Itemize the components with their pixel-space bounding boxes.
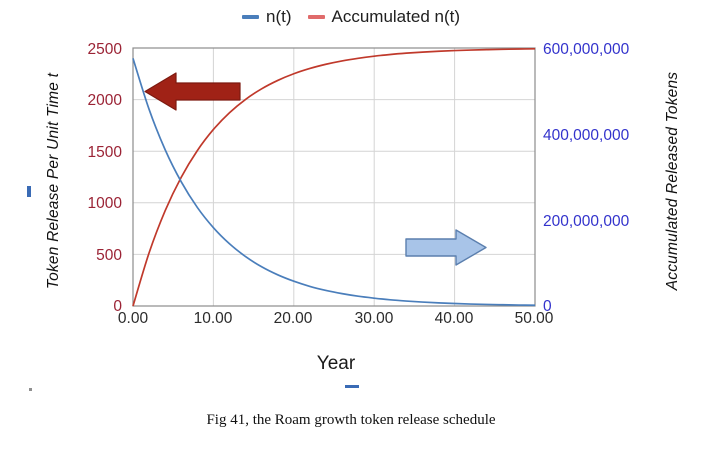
figure-container: n(t) Accumulated n(t) Token Release Per …	[0, 0, 702, 450]
figure-caption: Fig 41, the Roam growth token release sc…	[0, 412, 702, 429]
plot-area	[0, 0, 702, 450]
